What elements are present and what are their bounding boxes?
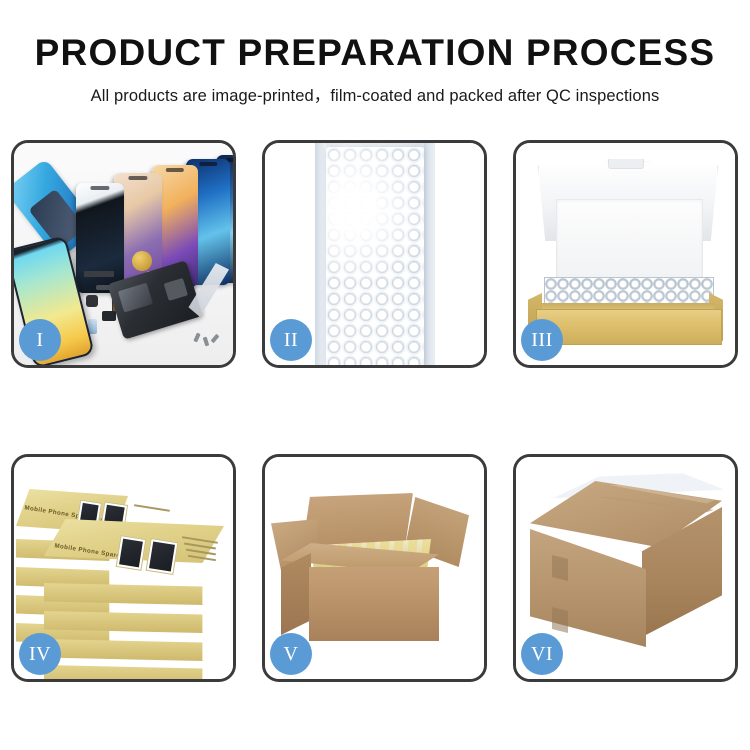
- step-badge-4: IV: [19, 633, 61, 675]
- step-badge-3: III: [521, 319, 563, 361]
- step-numeral: I: [36, 330, 43, 350]
- flex-strip-part-icon: [84, 271, 114, 277]
- camera-part-icon: [102, 311, 116, 321]
- product-preparation-infographic: PRODUCT PREPARATION PROCESS All products…: [0, 0, 750, 750]
- wrap-edge-icon: [424, 143, 435, 365]
- step-numeral: V: [284, 644, 299, 664]
- header: PRODUCT PREPARATION PROCESS All products…: [0, 34, 750, 106]
- wrap-edge-icon: [315, 143, 326, 365]
- carton-seal-mark-icon: [552, 555, 568, 581]
- phone-notch-icon: [128, 176, 147, 180]
- steps-grid: I II: [11, 140, 739, 685]
- step-panel-5: V: [262, 454, 487, 682]
- screws-icon: [195, 333, 221, 349]
- foam-sheet-icon: [556, 199, 703, 285]
- step-numeral: III: [531, 330, 552, 350]
- checklist-line: [134, 504, 170, 511]
- box-window-icon: [116, 535, 147, 571]
- step-panel-1: I: [11, 140, 236, 368]
- step-panel-4: Mobile Phone Spare Parts Mobile Phone Sp…: [11, 454, 236, 682]
- box-lid-tab-icon: [608, 159, 644, 169]
- step-numeral: IV: [29, 644, 51, 664]
- box-front-panel-icon: [536, 309, 722, 345]
- step-panel-2: II: [262, 140, 487, 368]
- step-badge-2: II: [270, 319, 312, 361]
- speaker-part-icon: [132, 251, 152, 271]
- phone-notch-icon: [199, 162, 217, 166]
- step-badge-1: I: [19, 319, 61, 361]
- camera-part-icon: [86, 295, 98, 307]
- carton-seal-mark-icon: [552, 607, 568, 633]
- step-numeral: VI: [531, 644, 553, 664]
- step-panel-3: III: [513, 140, 738, 368]
- step-badge-6: VI: [521, 633, 563, 675]
- bubble-wrap-bubbles-icon: [326, 147, 424, 365]
- phone-notch-icon: [90, 186, 109, 190]
- step-panel-6: VI: [513, 454, 738, 682]
- carton-front-face-icon: [309, 567, 439, 641]
- retail-box: [44, 653, 224, 679]
- step-numeral: II: [284, 330, 298, 350]
- page-subtitle: All products are image-printed，film-coat…: [0, 82, 750, 106]
- step-badge-5: V: [270, 633, 312, 675]
- phone-notch-icon: [166, 168, 184, 172]
- page-title: PRODUCT PREPARATION PROCESS: [0, 34, 750, 73]
- box-front-face: [44, 665, 224, 679]
- box-window-icon: [146, 538, 179, 575]
